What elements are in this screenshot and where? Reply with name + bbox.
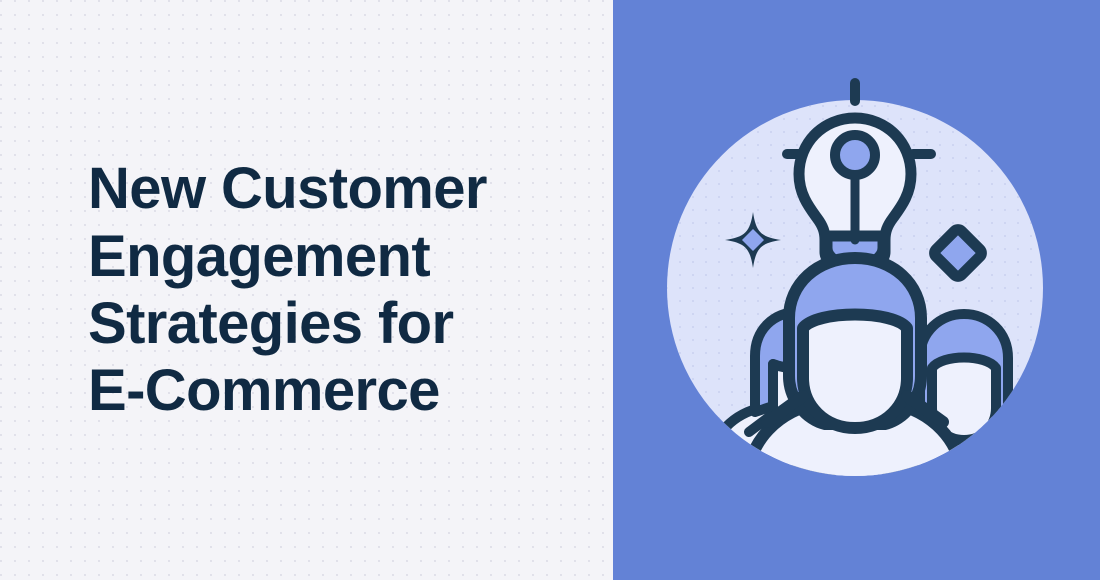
page-title: New Customer Engagement Strategies for E…	[88, 155, 487, 424]
article-hero-banner: New Customer Engagement Strategies for E…	[0, 0, 1100, 580]
illustration-panel	[613, 0, 1100, 580]
ray-dash-top-icon	[850, 78, 860, 106]
teamwork-idea-illustration	[613, 0, 1100, 580]
headline-panel: New Customer Engagement Strategies for E…	[0, 0, 613, 580]
